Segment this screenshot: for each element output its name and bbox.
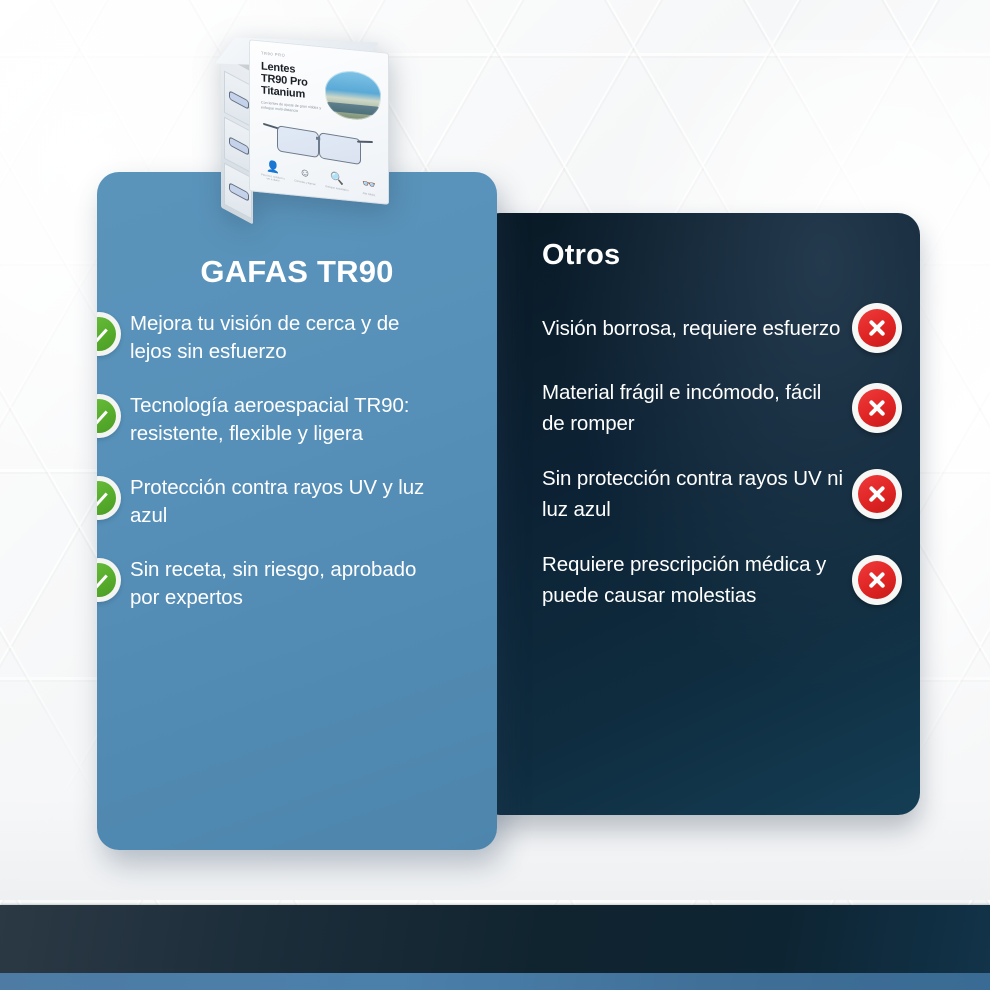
list-item: Visión borrosa, requiere esfuerzo <box>478 303 920 353</box>
bottom-blue-strip <box>0 973 990 990</box>
cons-card-title: Otros <box>542 239 620 272</box>
cross-circle-icon <box>852 383 902 433</box>
cross-circle-icon <box>852 469 902 519</box>
glasses-icon: 👓 Alta nitidez <box>357 177 381 202</box>
check-circle-icon <box>97 394 121 438</box>
pros-item-label: Protección contra rayos UV y luz azul <box>130 474 435 530</box>
comparison-infographic: Otros Visión borrosa, requiere esfuerzo … <box>0 0 990 990</box>
pros-item-label: Tecnología aeroespacial TR90: resistente… <box>130 392 435 448</box>
cons-item-label: Requiere prescripción médica y puede cau… <box>542 549 846 611</box>
list-item: Requiere prescripción médica y puede cau… <box>478 549 920 611</box>
cross-circle-icon <box>852 303 902 353</box>
list-item: Tecnología aeroespacial TR90: resistente… <box>97 392 497 448</box>
pros-card-title: GAFAS TR90 <box>97 254 497 290</box>
list-item: Sin receta, sin riesgo, aprobado por exp… <box>97 556 497 612</box>
pros-item-label: Sin receta, sin riesgo, aprobado por exp… <box>130 556 435 612</box>
product-scenery-photo <box>325 69 381 122</box>
check-circle-icon <box>97 476 121 520</box>
list-item: Protección contra rayos UV y luz azul <box>97 474 497 530</box>
bottom-dark-bar <box>0 905 990 973</box>
pros-list: Mejora tu visión de cerca y de lejos sin… <box>97 310 497 638</box>
product-title: Lentes TR90 Pro Titanium <box>261 60 308 100</box>
product-box-image: TR90 PRO Lentes TR90 Pro Titanium Con le… <box>213 34 403 224</box>
magnifier-icon: 🔍 Enfoque automático <box>325 171 349 196</box>
person-icon: 👤 Para leer, conducir y ver a diario <box>261 159 285 184</box>
cons-item-label: Visión borrosa, requiere esfuerzo <box>542 313 846 344</box>
smiley-icon: ☺ Cómodas y ligeras <box>293 165 317 190</box>
product-box-front-panel: TR90 PRO Lentes TR90 Pro Titanium Con le… <box>249 39 389 204</box>
pros-card: GAFAS TR90 Mejora tu visión de cerca y d… <box>97 172 497 850</box>
check-circle-icon <box>97 312 121 356</box>
cons-card: Otros Visión borrosa, requiere esfuerzo … <box>478 213 920 815</box>
list-item: Mejora tu visión de cerca y de lejos sin… <box>97 310 497 366</box>
product-subtitle: Con lentes de ajuste de gran nitidez y e… <box>261 100 329 117</box>
cons-item-label: Sin protección contra rayos UV ni luz az… <box>542 463 846 525</box>
list-item: Sin protección contra rayos UV ni luz az… <box>478 463 920 525</box>
cross-circle-icon <box>852 555 902 605</box>
pros-item-label: Mejora tu visión de cerca y de lejos sin… <box>130 310 435 366</box>
cons-list: Visión borrosa, requiere esfuerzo Materi… <box>478 303 920 635</box>
list-item: Material frágil e incómodo, fácil de rom… <box>478 377 920 439</box>
cons-item-label: Material frágil e incómodo, fácil de rom… <box>542 377 846 439</box>
product-sku-label: TR90 PRO <box>261 50 285 57</box>
check-circle-icon <box>97 558 121 602</box>
